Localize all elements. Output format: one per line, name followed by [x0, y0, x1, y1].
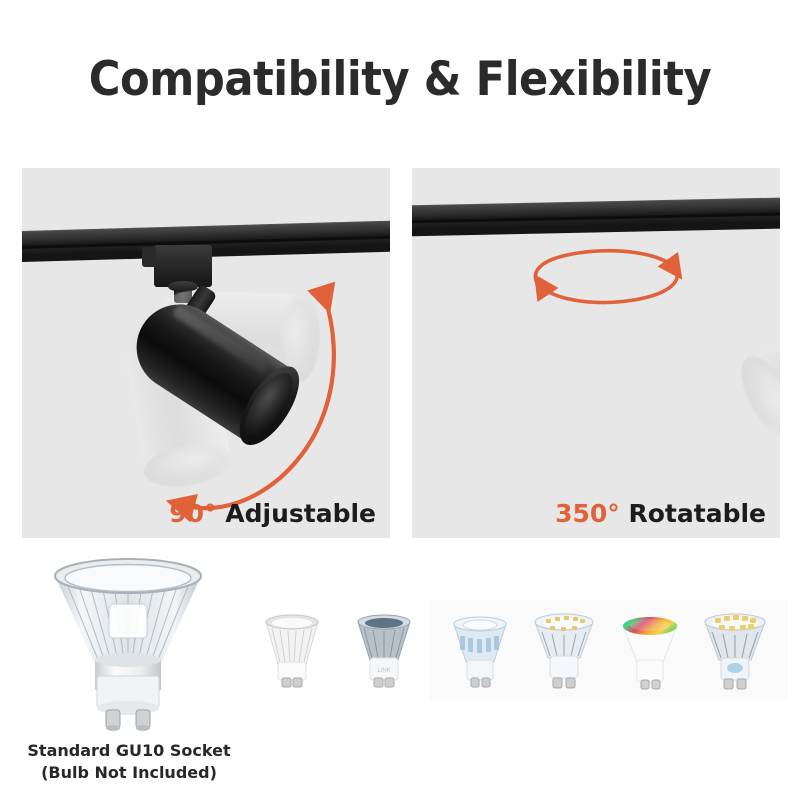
socket-caption: Standard GU10 Socket (Bulb Not Included) — [0, 740, 258, 783]
rail-groove — [412, 212, 780, 224]
socket-caption-line1: Standard GU10 Socket — [0, 740, 258, 762]
track-rail — [412, 197, 780, 232]
ghost-lamp-rotated — [722, 289, 780, 449]
rotation-label-text: Rotatable — [629, 499, 767, 528]
white-led-gu10-bulb — [260, 612, 324, 696]
adapter-tab — [142, 247, 156, 267]
svg-text:LINK: LINK — [377, 668, 390, 674]
rotation-label: 350° Rotatable — [555, 499, 766, 528]
product-feature-graphic: Compatibility & Flexibility — [0, 0, 800, 800]
clear-glass-led-gu10-bulb — [448, 612, 512, 696]
rotation-panel: 350° Rotatable — [412, 168, 780, 538]
smd-array-led-gu10-bulb — [700, 610, 770, 698]
tilt-degree-value: 90° — [169, 499, 216, 528]
silver-led-gu10-bulb: LINK — [352, 612, 416, 696]
smd-clear-led-gu10-bulb — [530, 610, 598, 698]
socket-caption-line2: (Bulb Not Included) — [0, 762, 258, 784]
halogen-gu10-bulb — [43, 552, 213, 737]
tilt-label: 90° Adjustable — [169, 499, 376, 528]
track-adapter — [154, 245, 212, 287]
rotation-degree-value: 350° — [555, 499, 620, 528]
tilt-label-text: Adjustable — [225, 499, 376, 528]
page-title: Compatibility & Flexibility — [32, 52, 768, 107]
rgb-smart-gu10-bulb — [617, 612, 683, 698]
rail-underlip — [412, 222, 780, 237]
tilt-adjustment-panel: 90° Adjustable — [22, 168, 390, 538]
